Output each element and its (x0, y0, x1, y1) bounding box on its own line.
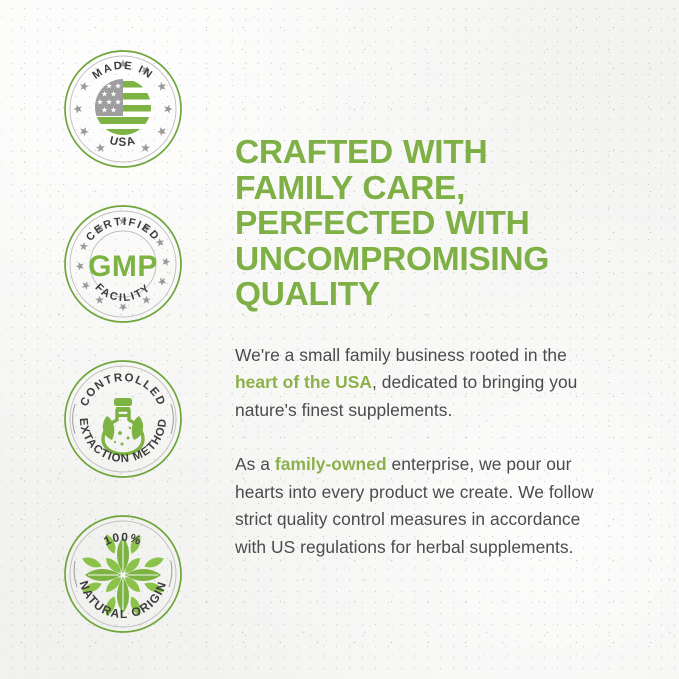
left-tick-arc (74, 561, 77, 587)
para2-lead: As a (235, 454, 275, 474)
right-tick-arc (171, 404, 173, 434)
trust-badge-column: MADE IN USA (62, 48, 190, 668)
usa-flag-circle-icon (92, 79, 154, 136)
para1-highlight: heart of the USA (235, 372, 372, 392)
badge-bottom-text: EXTACTION METHOD (77, 417, 169, 465)
promo-panel: MADE IN USA (0, 0, 679, 679)
paragraph-quality-control: As a family-owned enterprise, we pour ou… (235, 451, 603, 561)
badge-made-in-usa: MADE IN USA (62, 48, 184, 170)
badge-gmp-certified: GMP CERTIFIED FACILITY (62, 203, 184, 325)
marketing-copy-column: CRAFTED WITH FAMILY CARE, PERFECTED WITH… (235, 135, 603, 561)
right-tick-arc (169, 561, 172, 587)
page-title: CRAFTED WITH FAMILY CARE, PERFECTED WITH… (235, 135, 603, 313)
badge-top-text: MADE IN (90, 60, 155, 82)
gmp-seal-icon: GMP (88, 250, 158, 283)
badge-natural-origin: 100% NATURAL ORIGIN (62, 513, 184, 635)
badge-bottom-text: USA (108, 135, 137, 149)
flask-leaf-icon (103, 398, 143, 454)
para1-lead: We're a small family business rooted in … (235, 345, 567, 365)
badge-controlled-extraction: CONTROLLED EXTACTION METHOD (62, 358, 184, 480)
badge-bottom-text: FACILITY (93, 281, 154, 304)
para2-highlight: family-owned (275, 454, 387, 474)
paragraph-family-business: We're a small family business rooted in … (235, 342, 603, 425)
left-tick-arc (73, 404, 75, 434)
